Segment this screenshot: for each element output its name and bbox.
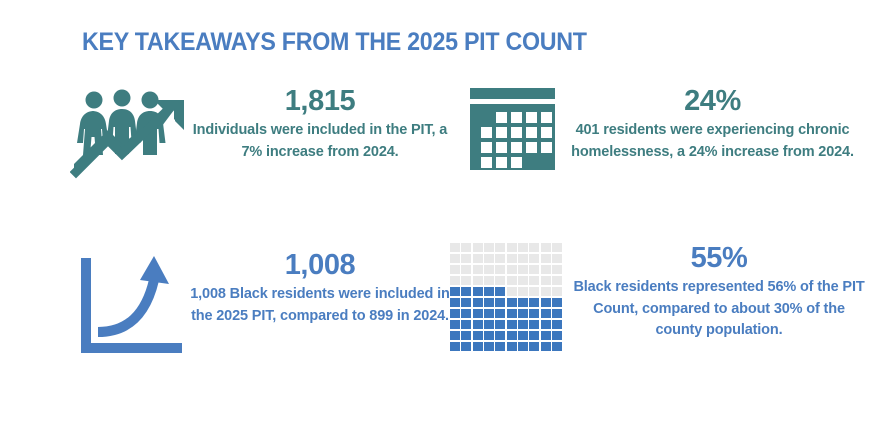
waffle-cell: [507, 320, 517, 329]
waffle-cell: [552, 298, 562, 307]
waffle-cell: [529, 331, 539, 340]
stat-description: 1,008 Black residents were included in t…: [190, 284, 450, 327]
waffle-cell: [529, 309, 539, 318]
icon-cell: [70, 86, 190, 181]
waffle-cell: [507, 243, 517, 252]
icon-cell: [450, 243, 568, 355]
waffle-cell: [484, 309, 494, 318]
waffle-cell: [552, 254, 562, 263]
waffle-cell: [484, 320, 494, 329]
waffle-cell: [450, 331, 460, 340]
waffle-cell: [473, 254, 483, 263]
waffle-cell: [484, 276, 494, 285]
waffle-cell: [473, 298, 483, 307]
stat-block-black-residents-count: 1,008 1,008 Black residents were include…: [70, 250, 450, 360]
waffle-cell: [518, 309, 528, 318]
waffle-cell: [473, 331, 483, 340]
waffle-cell: [495, 309, 505, 318]
icon-cell: [460, 86, 565, 174]
people-growth-arrow-icon: [70, 86, 190, 181]
waffle-cell: [450, 342, 460, 351]
waffle-cell: [541, 287, 551, 296]
waffle-cell: [507, 309, 517, 318]
waffle-cell: [473, 309, 483, 318]
waffle-cell: [484, 265, 494, 274]
waffle-cell: [552, 265, 562, 274]
waffle-cell: [461, 276, 471, 285]
growth-curve-icon: [70, 250, 190, 360]
text-cell: 1,815 Individuals were included in the P…: [190, 86, 450, 163]
waffle-cell: [529, 342, 539, 351]
waffle-cell: [450, 309, 460, 318]
waffle-cell: [495, 320, 505, 329]
waffle-cell: [450, 287, 460, 296]
waffle-cell: [518, 320, 528, 329]
stat-description: 401 residents were experiencing chronic …: [565, 120, 860, 163]
waffle-cell: [552, 287, 562, 296]
waffle-cell: [552, 342, 562, 351]
infographic-canvas: KEY TAKEAWAYS FROM THE 2025 PIT COUNT: [0, 0, 880, 440]
stat-number: 1,815: [190, 86, 450, 116]
waffle-cell: [552, 309, 562, 318]
waffle-cell: [518, 265, 528, 274]
waffle-cell: [507, 298, 517, 307]
stat-number: 55%: [568, 243, 870, 273]
waffle-cell: [507, 342, 517, 351]
stat-description: Black residents represented 56% of the P…: [568, 277, 870, 341]
waffle-cell: [473, 265, 483, 274]
waffle-cell: [552, 243, 562, 252]
waffle-cell: [461, 265, 471, 274]
stat-description: Individuals were included in the PIT, a …: [190, 120, 450, 163]
stat-block-chronic-homelessness: 24% 401 residents were experiencing chro…: [460, 86, 860, 174]
waffle-cell: [473, 276, 483, 285]
stat-grid: 1,815 Individuals were included in the P…: [0, 78, 880, 438]
waffle-cell: [541, 309, 551, 318]
waffle-cell: [484, 243, 494, 252]
stat-block-black-residents-share: 55% Black residents represented 56% of t…: [450, 243, 870, 355]
waffle-cell: [552, 276, 562, 285]
waffle-cell: [484, 298, 494, 307]
waffle-cell: [495, 298, 505, 307]
waffle-cell: [518, 342, 528, 351]
waffle-cell: [541, 342, 551, 351]
waffle-cell: [518, 287, 528, 296]
waffle-cell: [473, 243, 483, 252]
waffle-cell: [518, 276, 528, 285]
stat-block-total-individuals: 1,815 Individuals were included in the P…: [70, 86, 450, 181]
icon-cell: [70, 250, 190, 360]
waffle-cell: [552, 331, 562, 340]
waffle-cell: [518, 298, 528, 307]
waffle-cell: [529, 320, 539, 329]
waffle-cell: [450, 243, 460, 252]
waffle-cell: [495, 287, 505, 296]
waffle-cell: [484, 342, 494, 351]
waffle-cell: [461, 309, 471, 318]
waffle-cell: [541, 265, 551, 274]
waffle-cell: [450, 254, 460, 263]
waffle-cell: [541, 243, 551, 252]
waffle-cell: [461, 298, 471, 307]
waffle-cell: [541, 331, 551, 340]
waffle-cell: [495, 254, 505, 263]
waffle-cell: [495, 265, 505, 274]
waffle-cell: [518, 254, 528, 263]
waffle-cell: [529, 254, 539, 263]
waffle-cell: [461, 320, 471, 329]
text-cell: 55% Black residents represented 56% of t…: [568, 243, 870, 342]
waffle-cell: [461, 342, 471, 351]
stat-number: 1,008: [190, 250, 450, 280]
waffle-cell: [473, 320, 483, 329]
waffle-cell: [450, 298, 460, 307]
waffle-cell: [529, 265, 539, 274]
text-cell: 24% 401 residents were experiencing chro…: [565, 86, 860, 163]
waffle-cell: [529, 276, 539, 285]
waffle-cell: [473, 342, 483, 351]
waffle-cell: [461, 243, 471, 252]
waffle-chart-icon: [450, 243, 568, 355]
waffle-cell: [495, 276, 505, 285]
waffle-cell: [529, 287, 539, 296]
stat-number: 24%: [565, 86, 860, 116]
waffle-cell: [461, 331, 471, 340]
waffle-cell: [541, 276, 551, 285]
waffle-cell: [495, 331, 505, 340]
waffle-cell: [484, 287, 494, 296]
waffle-cell: [507, 331, 517, 340]
calendar-icon: [460, 86, 565, 174]
waffle-cell: [450, 320, 460, 329]
waffle-cell: [495, 243, 505, 252]
waffle-cell: [529, 243, 539, 252]
waffle-cell: [473, 287, 483, 296]
waffle-cell: [529, 298, 539, 307]
waffle-cell: [541, 298, 551, 307]
waffle-cell: [541, 320, 551, 329]
waffle-cell: [518, 243, 528, 252]
waffle-cell: [541, 254, 551, 263]
waffle-cell: [507, 287, 517, 296]
waffle-cell: [484, 254, 494, 263]
text-cell: 1,008 1,008 Black residents were include…: [190, 250, 450, 327]
waffle-cell: [484, 331, 494, 340]
waffle-cell: [450, 276, 460, 285]
waffle-cell: [507, 254, 517, 263]
page-title: KEY TAKEAWAYS FROM THE 2025 PIT COUNT: [82, 28, 587, 57]
waffle-cell: [461, 254, 471, 263]
waffle-cell: [495, 342, 505, 351]
waffle-grid: [450, 243, 562, 351]
waffle-cell: [507, 276, 517, 285]
waffle-cell: [518, 331, 528, 340]
waffle-cell: [461, 287, 471, 296]
waffle-cell: [507, 265, 517, 274]
waffle-cell: [450, 265, 460, 274]
waffle-cell: [552, 320, 562, 329]
